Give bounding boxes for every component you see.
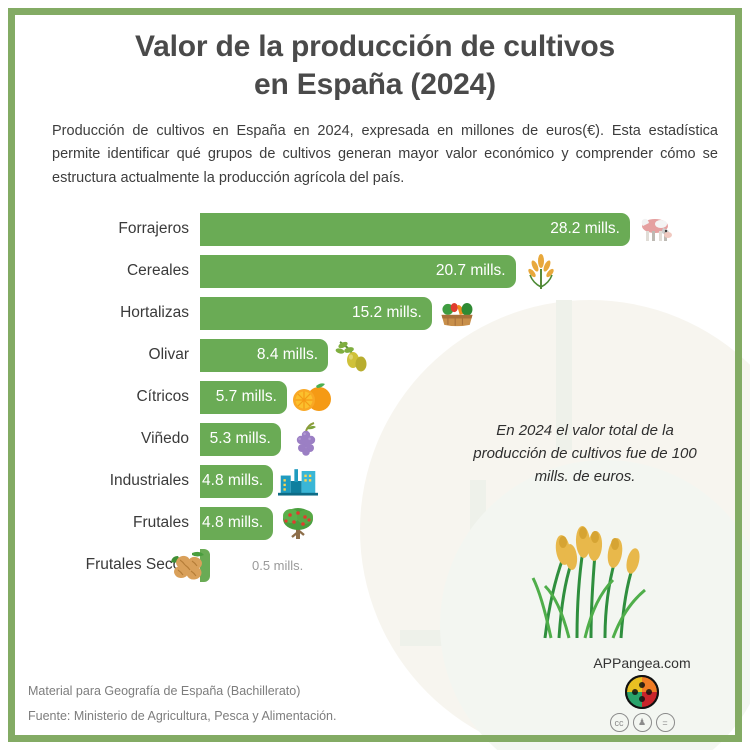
- bar-value-label: 4.8 mills.: [202, 472, 263, 490]
- footer-line-1: Material para Geografía de España (Bachi…: [28, 679, 336, 703]
- cc-nd-equals-icon: =: [656, 713, 675, 732]
- footer-line-2: Fuente: Ministerio de Agricultura, Pesca…: [28, 704, 336, 728]
- chart-row: Cereales20.7 mills.: [0, 250, 750, 292]
- bar-value-label: 28.2 mills.: [550, 220, 620, 238]
- bar-area: 15.2 mills.: [200, 297, 750, 330]
- total-annotation: En 2024 el valor total de la producción …: [470, 420, 700, 488]
- chart-row: Cítricos5.7 mills.: [0, 376, 750, 418]
- nuts-icon: [170, 547, 210, 583]
- wheat-illustration: [525, 520, 655, 640]
- creative-commons-badges: cc ♟ =: [562, 713, 722, 732]
- brand-name[interactable]: APPangea.com: [562, 655, 722, 671]
- title-line-2: en España (2024): [48, 66, 702, 104]
- category-label: Frutales: [0, 514, 200, 532]
- chart-bar: 4.8 mills.: [200, 507, 273, 540]
- cc-icon: cc: [610, 713, 629, 732]
- grapes-icon: [286, 421, 326, 457]
- chart-bar: 28.2 mills.: [200, 213, 630, 246]
- chart-bar: 4.8 mills.: [200, 465, 273, 498]
- chart-bar: 20.7 mills.: [200, 255, 516, 288]
- bar-area: 4.8 mills.: [200, 507, 750, 540]
- bar-area: 20.7 mills.: [200, 255, 750, 288]
- factory-icon: [278, 463, 318, 499]
- bar-area: 28.2 mills.: [200, 213, 750, 246]
- bar-value-label: 8.4 mills.: [257, 346, 318, 364]
- category-label: Forrajeros: [0, 220, 200, 238]
- intro-paragraph: Producción de cultivos en España en 2024…: [0, 120, 750, 190]
- cc-by-person-icon: ♟: [633, 713, 652, 732]
- chart-bar: 15.2 mills.: [200, 297, 432, 330]
- chart-bar: 5.7 mills.: [200, 381, 287, 414]
- bar-area: 0.5 mills.: [200, 549, 750, 582]
- cow-icon: [635, 211, 675, 247]
- chart-bar: 8.4 mills.: [200, 339, 328, 372]
- chart-bar: 5.3 mills.: [200, 423, 281, 456]
- bar-area: 8.4 mills.: [200, 339, 750, 372]
- bar-value-label: 15.2 mills.: [352, 304, 422, 322]
- bar-value-label: 5.3 mills.: [210, 430, 271, 448]
- category-label: Viñedo: [0, 430, 200, 448]
- title-line-1: Valor de la producción de cultivos: [135, 30, 615, 63]
- bar-value-label: 4.8 mills.: [202, 514, 263, 532]
- bar-value-label: 20.7 mills.: [436, 262, 506, 280]
- category-label: Industriales: [0, 472, 200, 490]
- bar-area: 5.7 mills.: [200, 381, 750, 414]
- oranges-icon: [292, 379, 332, 415]
- footer-credits: Material para Geografía de España (Bachi…: [28, 679, 336, 728]
- bar-value-label: 5.7 mills.: [216, 388, 277, 406]
- olives-icon: [333, 337, 373, 373]
- page-title: Valor de la producción de cultivos en Es…: [0, 0, 750, 104]
- poster-content: Valor de la producción de cultivos en Es…: [0, 0, 750, 586]
- vegetable-basket-icon: [437, 295, 477, 331]
- category-label: Cereales: [0, 262, 200, 280]
- wheat-icon: [521, 253, 561, 289]
- category-label: Cítricos: [0, 388, 200, 406]
- category-label: Olivar: [0, 346, 200, 364]
- infographic-poster: Valor de la producción de cultivos en Es…: [0, 0, 750, 750]
- chart-row: Olivar8.4 mills.: [0, 334, 750, 376]
- appangea-logo-icon: [624, 674, 660, 710]
- category-label: Hortalizas: [0, 304, 200, 322]
- fruit-tree-icon: [278, 505, 318, 541]
- bar-value-label: 0.5 mills.: [252, 558, 303, 573]
- chart-row: Hortalizas15.2 mills.: [0, 292, 750, 334]
- brand-block: APPangea.com cc ♟ =: [562, 655, 722, 732]
- chart-row: Forrajeros28.2 mills.: [0, 208, 750, 250]
